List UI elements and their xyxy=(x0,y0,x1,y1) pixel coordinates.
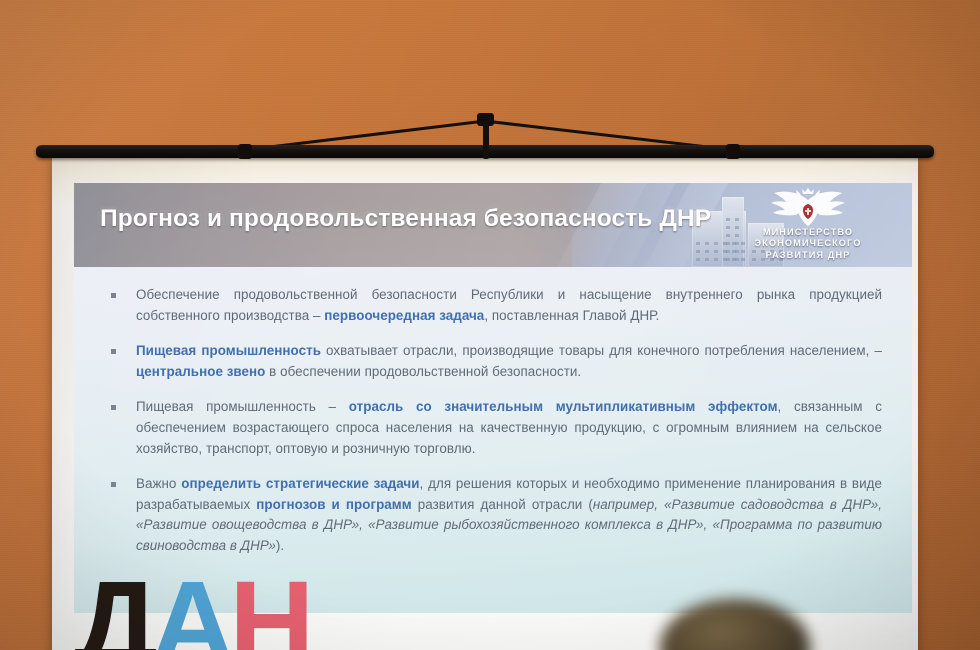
conference-room-photo: Прогноз и продовольственная безопасность… xyxy=(0,0,980,650)
bullet-text-run: Пищевая промышленность xyxy=(136,343,321,358)
building-window xyxy=(696,258,700,261)
bullet-marker-icon xyxy=(111,349,116,354)
ministry-logo: МИНИСТЕРСТВО ЭКОНОМИЧЕСКОГО РАЗВИТИЯ ДНР xyxy=(710,186,906,266)
bullet-food-security: Обеспечение продовольственной безопаснос… xyxy=(102,285,882,326)
bullet-text-run: первоочередная задача xyxy=(324,308,484,323)
double-headed-eagle-emblem xyxy=(762,186,854,226)
watermark-letter-n: Н xyxy=(229,557,312,650)
bullet-marker-icon xyxy=(111,482,116,487)
building-window xyxy=(696,250,700,253)
bullet-text-run: центральное звено xyxy=(136,364,265,379)
page-title: Прогноз и продовольственная безопасность… xyxy=(100,205,711,233)
bullet-food-industry: Пищевая промышленность охватывает отрасл… xyxy=(102,341,882,382)
building-window xyxy=(705,250,709,253)
bullet-text-run: , поставленная Главой ДНР. xyxy=(484,308,659,323)
slide-title-band: Прогноз и продовольственная безопасность… xyxy=(74,183,912,267)
dan-news-agency-watermark: ДАН xyxy=(74,567,313,650)
presentation-slide: Прогноз и продовольственная безопасность… xyxy=(74,183,912,613)
bullet-multiplier-effect: Пищевая промышленность – отрасль со знач… xyxy=(102,397,882,459)
bullet-text-run: прогнозов и программ xyxy=(256,497,412,512)
bullet-marker-icon xyxy=(111,293,116,298)
watermark-letter-d: Д xyxy=(74,557,156,650)
bullet-text-run: в обеспечении продовольственной безопасн… xyxy=(265,364,581,379)
bullet-marker-icon xyxy=(111,405,116,410)
bullet-text-run: развития данной отрасли ( xyxy=(412,497,593,512)
building-window xyxy=(696,242,700,245)
bullet-text-run: охватывает отрасли, производящие товары … xyxy=(321,343,882,358)
ministry-caption-line-2: ЭКОНОМИЧЕСКОГО xyxy=(710,238,906,249)
projection-screen-fabric: Прогноз и продовольственная безопасность… xyxy=(52,156,918,650)
bullet-text-run: ). xyxy=(276,538,284,553)
bullet-text-run: Важно xyxy=(136,476,181,491)
ministry-caption-line-3: РАЗВИТИЯ ДНР xyxy=(710,250,906,261)
watermark-letter-a: А xyxy=(150,557,233,650)
building-window xyxy=(705,258,709,261)
slide-bullet-list: Обеспечение продовольственной безопаснос… xyxy=(74,267,912,572)
bullet-strategic-tasks: Важно определить стратегические задачи, … xyxy=(102,474,882,556)
bullet-text-run: Пищевая промышленность – xyxy=(136,399,349,414)
ministry-caption-line-1: МИНИСТЕРСТВО xyxy=(710,227,906,238)
bullet-text-run: определить стратегические задачи xyxy=(181,476,419,491)
screen-hook-icon xyxy=(481,113,490,159)
building-window xyxy=(705,242,709,245)
projection-screen-assembly: Прогноз и продовольственная безопасность… xyxy=(36,145,934,650)
bullet-text-run: отрасль со значительным мультипликативны… xyxy=(349,399,778,414)
